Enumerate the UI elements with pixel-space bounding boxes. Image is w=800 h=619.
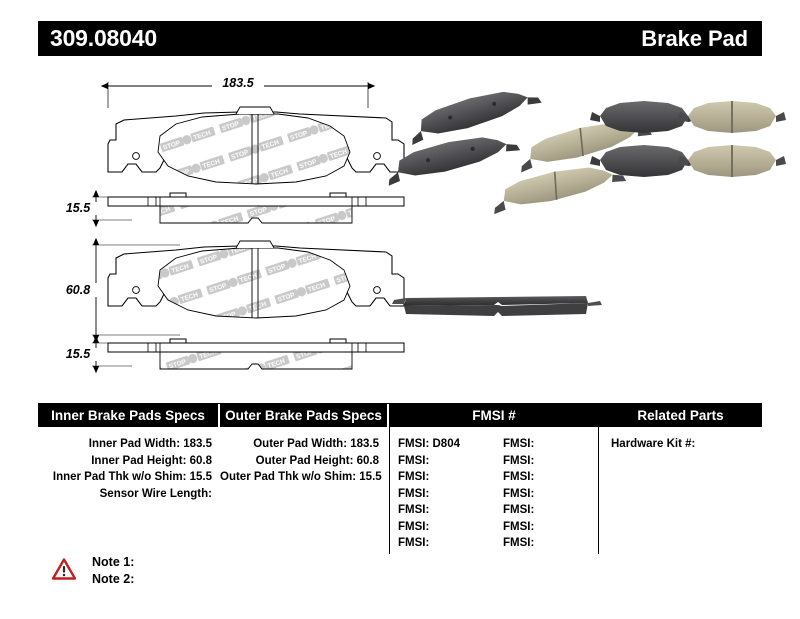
- fmsi-row: FMSI:: [503, 486, 598, 503]
- fmsi-row: FMSI:: [398, 519, 493, 536]
- fmsi-sublist-right: FMSI: FMSI: FMSI: FMSI: FMSI: FMSI: FMSI…: [493, 436, 598, 552]
- column-header-fmsi: FMSI #: [390, 404, 598, 427]
- spec-outer-pad-width: Outer Pad Width: 183.5: [220, 436, 389, 453]
- product-photo-edge-profile: [392, 296, 602, 316]
- column-header-related-parts: Related Parts: [599, 404, 762, 427]
- photo-pad-friction-2: [678, 145, 786, 177]
- fmsi-row: FMSI:: [398, 469, 493, 486]
- column-body-related-parts: Hardware Kit #:: [599, 427, 762, 554]
- spec-outer-pad-height: Outer Pad Height: 60.8: [220, 453, 389, 470]
- friction-surface-bottom: [158, 241, 350, 318]
- technical-drawing-area: STOP TECH: [0, 60, 800, 395]
- column-header-inner: Inner Brake Pads Specs: [38, 404, 218, 427]
- column-header-outer: Outer Brake Pads Specs: [220, 404, 387, 427]
- fmsi-row: FMSI:: [398, 502, 493, 519]
- pad-edge-view-top: [108, 193, 404, 223]
- photo-pad-friction-1: [678, 101, 786, 133]
- spec-hardware-kit: Hardware Kit #:: [611, 436, 762, 453]
- column-outer-brake-pads-specs: Outer Brake Pads Specs Outer Pad Width: …: [220, 404, 389, 554]
- title-bar: 309.08040 Brake Pad: [38, 21, 762, 56]
- fmsi-row: FMSI:: [503, 502, 598, 519]
- dimension-thickness-top-label: 15.5: [66, 201, 91, 215]
- note-1: Note 1:: [92, 554, 134, 571]
- column-body-inner: Inner Pad Width: 183.5 Inner Pad Height:…: [38, 427, 220, 554]
- spec-inner-pad-width: Inner Pad Width: 183.5: [38, 436, 220, 453]
- spec-sensor-wire-length: Sensor Wire Length:: [38, 486, 220, 503]
- dimension-height-label: 60.8: [66, 283, 90, 297]
- fmsi-row: FMSI:: [398, 535, 493, 552]
- product-photo-angled: [382, 80, 653, 214]
- column-inner-brake-pads-specs: Inner Brake Pads Specs Inner Pad Width: …: [38, 404, 220, 554]
- column-fmsi: FMSI # FMSI: D804 FMSI: FMSI: FMSI: FMSI…: [389, 404, 598, 554]
- dimension-thickness-bottom-label: 15.5: [66, 347, 91, 361]
- fmsi-sublist-left: FMSI: D804 FMSI: FMSI: FMSI: FMSI: FMSI:…: [398, 436, 493, 552]
- part-number: 309.08040: [50, 27, 157, 50]
- fmsi-row: FMSI:: [503, 535, 598, 552]
- fmsi-row: FMSI:: [398, 486, 493, 503]
- column-body-fmsi: FMSI: D804 FMSI: FMSI: FMSI: FMSI: FMSI:…: [390, 427, 598, 554]
- spec-outer-pad-thickness: Outer Pad Thk w/o Shim: 15.5: [220, 469, 389, 486]
- note-list: Note 1: Note 2:: [92, 554, 134, 588]
- fmsi-row: FMSI:: [503, 436, 598, 453]
- product-type-label: Brake Pad: [641, 28, 748, 50]
- notes-section: Note 1: Note 2:: [52, 554, 134, 588]
- friction-surface-top: [158, 107, 350, 184]
- fmsi-row: FMSI:: [503, 469, 598, 486]
- fmsi-row: FMSI: D804: [398, 436, 493, 453]
- warning-icon: [52, 558, 76, 580]
- spec-inner-pad-height: Inner Pad Height: 60.8: [38, 453, 220, 470]
- fmsi-row: FMSI:: [503, 453, 598, 470]
- dimension-width-label: 183.5: [222, 76, 254, 90]
- fmsi-row: FMSI:: [398, 453, 493, 470]
- spec-inner-pad-thickness: Inner Pad Thk w/o Shim: 15.5: [38, 469, 220, 486]
- note-2: Note 2:: [92, 571, 134, 588]
- pad-edge-view-bottom: [108, 339, 404, 369]
- fmsi-row: FMSI:: [503, 519, 598, 536]
- column-body-outer: Outer Pad Width: 183.5 Outer Pad Height:…: [220, 427, 389, 554]
- column-related-parts: Related Parts Hardware Kit #:: [598, 404, 762, 554]
